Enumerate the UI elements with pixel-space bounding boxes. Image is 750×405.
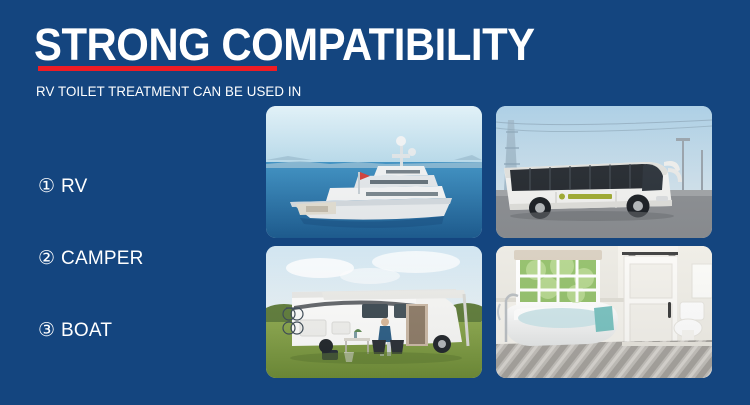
use-case-list: ① RV ② CAMPER ③ BOAT — [38, 150, 248, 366]
subtitle: RV TOILET TREATMENT CAN BE USED IN — [36, 82, 301, 100]
list-number-icon: ① — [38, 177, 55, 196]
photo-grid — [266, 106, 712, 378]
list-number-icon: ③ — [38, 321, 55, 340]
bathroom-photo — [496, 246, 712, 378]
title-underline-rule — [38, 66, 277, 71]
yacht-photo — [266, 106, 482, 238]
list-item-label: CAMPER — [61, 249, 144, 268]
list-item-camper: ② CAMPER — [38, 222, 248, 294]
list-item-label: BOAT — [61, 321, 112, 340]
strong-compatibility-banner: STRONG COMPATIBILITY RV TOILET TREATMENT… — [0, 0, 750, 405]
motorhome-photo — [266, 246, 482, 378]
list-item-boat: ③ BOAT — [38, 294, 248, 366]
list-item-rv: ① RV — [38, 150, 248, 222]
list-item-label: RV — [61, 177, 87, 196]
page-title: STRONG COMPATIBILITY — [34, 22, 535, 68]
list-number-icon: ② — [38, 249, 55, 268]
coach-bus-photo — [496, 106, 712, 238]
